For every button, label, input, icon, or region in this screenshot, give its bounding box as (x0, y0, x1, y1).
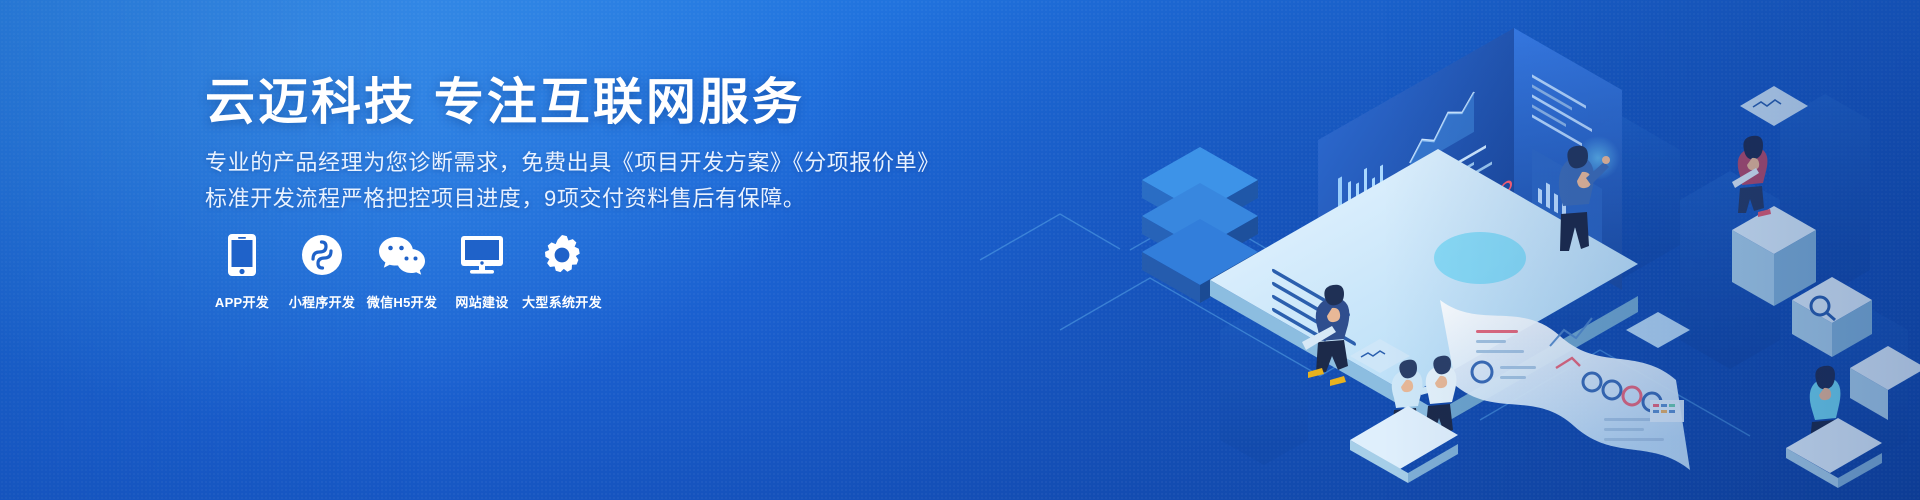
subtitle-line-2: 标准开发流程严格把控项目进度，9项交付资料售后有保障。 (205, 182, 805, 216)
desktop-monitor-icon (460, 232, 504, 278)
service-icon-list: APP开发 小程序开发 (205, 232, 605, 311)
mini-program-icon (301, 232, 343, 278)
service-item-large-system[interactable]: 大型系统开发 (525, 232, 599, 311)
service-label: 大型系统开发 (522, 292, 602, 311)
service-label: 网站建设 (455, 292, 508, 311)
gear-icon (541, 232, 583, 278)
service-label: 小程序开发 (289, 292, 356, 311)
banner-content: 云迈科技 专注互联网服务 专业的产品经理为您诊断需求，免费出具《项目开发方案》《… (205, 0, 925, 500)
service-item-app[interactable]: APP开发 (205, 232, 279, 311)
service-item-miniprogram[interactable]: 小程序开发 (285, 232, 359, 311)
mobile-phone-icon (227, 232, 257, 278)
service-label: 微信H5开发 (367, 292, 437, 311)
subtitle-line-1: 专业的产品经理为您诊断需求，免费出具《项目开发方案》《分项报价单》 (205, 146, 940, 180)
service-item-wechat-h5[interactable]: 微信H5开发 (365, 232, 439, 311)
isometric-illustration (920, 0, 1920, 500)
page-title: 云迈科技 专注互联网服务 (205, 72, 805, 132)
service-item-website[interactable]: 网站建设 (445, 232, 519, 311)
service-label: APP开发 (215, 292, 269, 311)
wechat-bubbles-icon (379, 232, 425, 278)
promo-banner: 云迈科技 专注互联网服务 专业的产品经理为您诊断需求，免费出具《项目开发方案》《… (0, 0, 1920, 500)
